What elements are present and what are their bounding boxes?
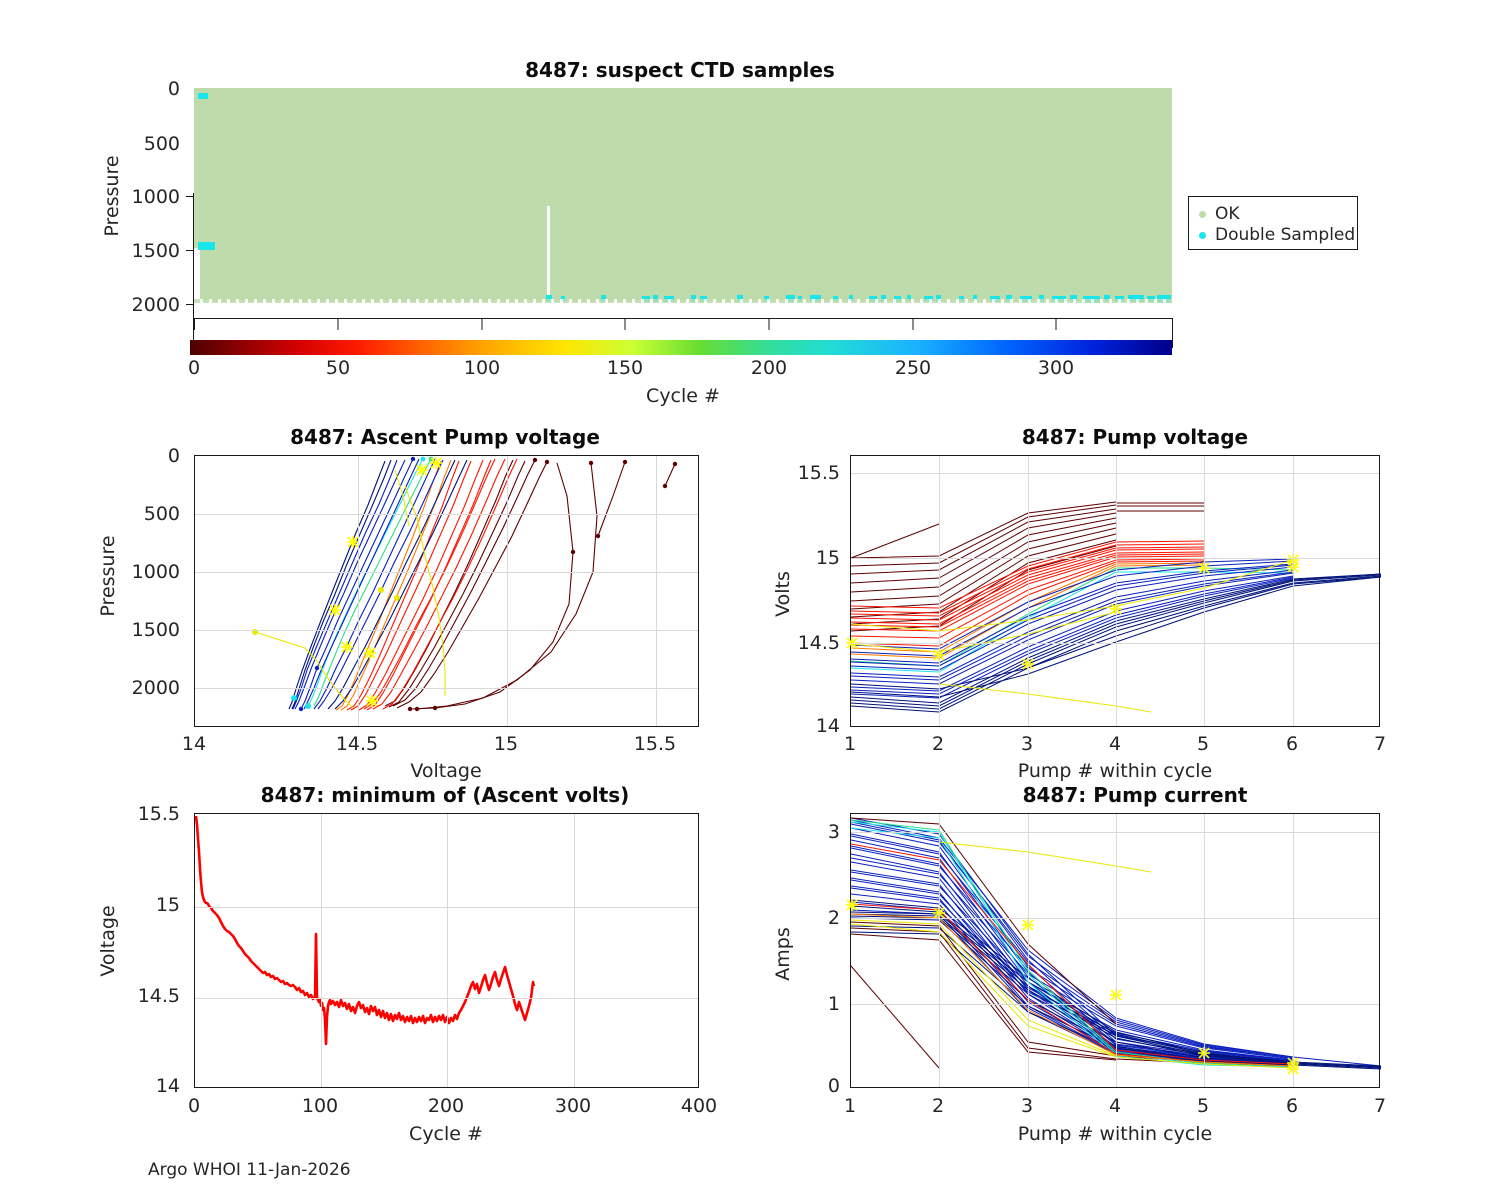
pc-ytick-3: 3 — [778, 821, 840, 843]
ascent-xtick-15: 15 — [476, 733, 536, 755]
panel-minimum-ascent-volts: 8487: minimum of (Ascent volts) 15.5 15 … — [0, 775, 740, 1135]
mav-ytick-15_5: 15.5 — [108, 803, 180, 825]
plot-area-pump-voltage — [850, 455, 1380, 727]
legend-item-double-sampled: Double Sampled — [1199, 225, 1355, 245]
legend-label-double-sampled: Double Sampled — [1215, 225, 1355, 245]
legend-label-ok: OK — [1215, 204, 1240, 224]
ascent-ytick-2000: 2000 — [110, 677, 180, 699]
plot-area-ascent-pump-voltage — [194, 455, 699, 727]
pc-gridline-y-2 — [851, 918, 1379, 919]
figure-canvas: 8487: suspect CTD samples — [0, 0, 1500, 1200]
yaxis-line-right — [1172, 318, 1173, 348]
legend-dot-ok — [1199, 211, 1206, 218]
ascent-ylabel-pressure: Pressure — [97, 506, 119, 646]
mav-xtick-0: 0 — [164, 1095, 224, 1117]
gridline-x-14_5 — [358, 456, 359, 726]
xtick-200: 200 — [739, 357, 799, 379]
gridline-y-1500 — [195, 630, 698, 631]
ascent-ytick-1500: 1500 — [110, 619, 180, 641]
pc-gridline-x-4 — [1116, 814, 1117, 1087]
xtick-250: 250 — [883, 357, 943, 379]
panel-title-pump-voltage: 8487: Pump voltage — [880, 425, 1390, 449]
xtick-marks-top — [194, 319, 1172, 331]
mav-gridline-x-200 — [447, 814, 448, 1087]
panel-pump-current: 8487: Pump current — [750, 775, 1500, 1135]
ytick-0: 0 — [120, 78, 180, 100]
panel-pump-voltage: 8487: Pump voltage — [750, 415, 1500, 765]
legend-box: OK Double Sampled — [1188, 196, 1358, 250]
pc-gridline-y-1 — [851, 1004, 1379, 1005]
ascent-xtick-15_5: 15.5 — [625, 733, 685, 755]
ytick-mark-2000 — [186, 304, 194, 305]
ascent-ytick-500: 500 — [120, 503, 180, 525]
panel-title-minimum-ascent-volts: 8487: minimum of (Ascent volts) — [175, 783, 715, 807]
figure-footer: Argo WHOI 11-Jan-2026 — [148, 1160, 351, 1180]
mav-xtick-400: 400 — [669, 1095, 729, 1117]
ytick-500: 500 — [120, 133, 180, 155]
pv-gridline-x-3 — [1028, 456, 1029, 726]
legend-dot-double-sampled — [1199, 232, 1206, 239]
ok-bottom-fringe — [194, 299, 1172, 303]
ytick-2000: 2000 — [110, 294, 180, 316]
gridline-y-1000 — [195, 572, 698, 573]
mav-xtick-100: 100 — [290, 1095, 350, 1117]
cycle-colorbar — [190, 340, 1172, 355]
pv-gridline-x-5 — [1204, 456, 1205, 726]
pc-xtick-2: 2 — [908, 1095, 968, 1117]
pc-gridline-x-2 — [939, 814, 940, 1087]
double-sampled-surface-cluster — [198, 93, 208, 99]
xtick-0: 0 — [164, 357, 224, 379]
pv-xtick-5: 5 — [1173, 733, 1233, 755]
pc-gridline-x-5 — [1204, 814, 1205, 1087]
pc-gridline-y-3 — [851, 832, 1379, 833]
xtick-300: 300 — [1026, 357, 1086, 379]
xtick-150: 150 — [595, 357, 655, 379]
pc-xtick-4: 4 — [1085, 1095, 1145, 1117]
pc-ylabel-amps: Amps — [772, 884, 794, 1024]
pv-ytick-15_5: 15.5 — [768, 462, 840, 484]
pc-gridline-x-3 — [1028, 814, 1029, 1087]
ytick-mark-1500 — [186, 250, 194, 251]
pc-xlabel-pump: Pump # within cycle — [995, 1123, 1235, 1145]
pc-ytick-0: 0 — [778, 1075, 840, 1097]
pv-ylabel-volts: Volts — [772, 524, 794, 664]
pv-xtick-6: 6 — [1262, 733, 1322, 755]
plot-area-minimum-ascent-volts — [194, 813, 699, 1088]
gridline-y-500 — [195, 514, 698, 515]
mav-ylabel-voltage: Voltage — [97, 871, 119, 1011]
missing-cycle-gap — [547, 206, 550, 301]
mav-gridline-x-100 — [321, 814, 322, 1087]
ok-sample-mass — [200, 88, 1172, 301]
pv-gridline-y-15_5 — [851, 473, 1379, 474]
ascent-ytick-1000: 1000 — [110, 561, 180, 583]
pv-gridline-x-6 — [1293, 456, 1294, 726]
mav-xlabel-cycle: Cycle # — [346, 1123, 546, 1145]
pc-xtick-6: 6 — [1262, 1095, 1322, 1117]
mav-xtick-300: 300 — [543, 1095, 603, 1117]
xtick-50: 50 — [308, 357, 368, 379]
ytick-mark-1000 — [186, 196, 194, 197]
pv-xtick-7: 7 — [1350, 733, 1410, 755]
plot-area-pump-current — [850, 813, 1380, 1088]
pc-xtick-3: 3 — [997, 1095, 1057, 1117]
ylabel-pressure: Pressure — [101, 126, 123, 266]
ascent-xtick-14_5: 14.5 — [327, 733, 387, 755]
pv-gridline-x-4 — [1116, 456, 1117, 726]
plot-area-suspect-ctd-samples — [194, 88, 1172, 318]
pv-xtick-4: 4 — [1085, 733, 1145, 755]
xlabel-cycle: Cycle # — [583, 385, 783, 407]
pv-xtick-3: 3 — [997, 733, 1057, 755]
gridline-x-15_5 — [656, 456, 657, 726]
pv-gridline-y-14_5 — [851, 643, 1379, 644]
ascent-xtick-14: 14 — [164, 733, 224, 755]
mav-gridline-x-300 — [574, 814, 575, 1087]
ascent-ytick-0: 0 — [120, 445, 180, 467]
panel-suspect-ctd-samples: 8487: suspect CTD samples — [0, 0, 1500, 400]
gridline-x-15 — [507, 456, 508, 726]
ok-sample-mass-left-edge — [194, 88, 202, 248]
pc-xtick-5: 5 — [1173, 1095, 1233, 1117]
pv-gridline-y-15 — [851, 558, 1379, 559]
pc-gridline-x-6 — [1293, 814, 1294, 1087]
pv-xtick-1: 1 — [820, 733, 880, 755]
pv-gridline-x-2 — [939, 456, 940, 726]
gridline-y-2000 — [195, 688, 698, 689]
pv-xtick-2: 2 — [908, 733, 968, 755]
panel-title-pump-current: 8487: Pump current — [880, 783, 1390, 807]
mav-ytick-14: 14 — [108, 1075, 180, 1097]
legend-item-ok: OK — [1199, 204, 1240, 224]
panel-ascent-pump-voltage: 8487: Ascent Pump voltage — [0, 415, 740, 765]
pc-xtick-1: 1 — [820, 1095, 880, 1117]
mav-xtick-200: 200 — [416, 1095, 476, 1117]
panel-title-ascent-pump-voltage: 8487: Ascent Pump voltage — [190, 425, 700, 449]
xtick-100: 100 — [452, 357, 512, 379]
panel-title-suspect-ctd-samples: 8487: suspect CTD samples — [190, 58, 1170, 82]
double-sampled-mid-cluster — [198, 242, 215, 250]
pc-xtick-7: 7 — [1350, 1095, 1410, 1117]
